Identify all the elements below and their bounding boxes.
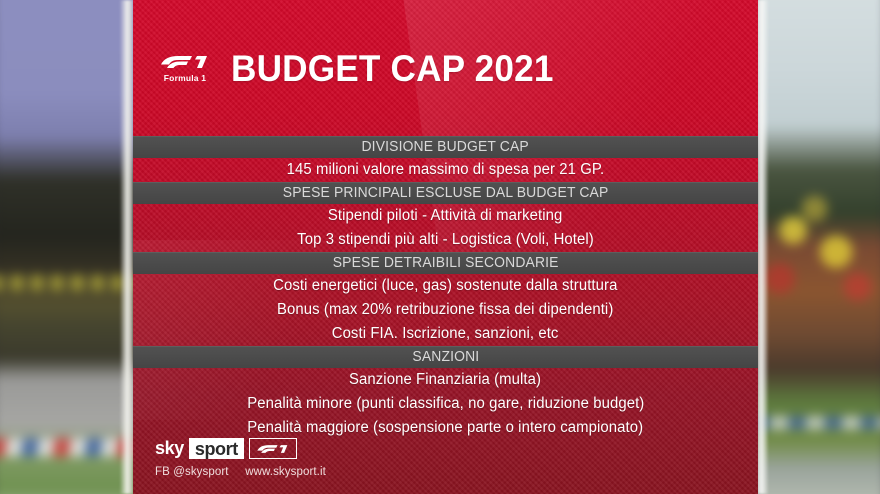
info-row-text: Stipendi piloti - Attività di marketing xyxy=(328,207,562,225)
sky-sport-logo: sky sport xyxy=(155,438,326,459)
f1-logo-icon xyxy=(159,53,211,71)
info-row: Bonus (max 20% retribuzione fissa dei di… xyxy=(133,298,758,322)
info-row-text: Costi FIA. Iscrizione, sanzioni, etc xyxy=(332,325,559,343)
facebook-handle: FB @skysport xyxy=(155,466,229,478)
sport-wordmark: sport xyxy=(195,440,238,458)
info-row: Penalità minore (punti classifica, no ga… xyxy=(133,392,758,416)
page-title: BUDGET CAP 2021 xyxy=(231,50,554,87)
section-heading: SPESE PRINCIPALI ESCLUSE DAL BUDGET CAP xyxy=(133,182,758,204)
social-handles: FB @skysport www.skysport.it xyxy=(155,466,326,478)
section-heading-label: SANZIONI xyxy=(412,349,479,365)
info-row-text: Sanzione Finanziaria (multa) xyxy=(349,371,541,389)
info-row: 145 milioni valore massimo di spesa per … xyxy=(133,158,758,182)
panel-header: Formula 1 BUDGET CAP 2021 xyxy=(133,0,758,136)
info-row-text: Bonus (max 20% retribuzione fissa dei di… xyxy=(277,301,613,319)
f1-logo-icon xyxy=(256,443,290,455)
red-info-panel: Formula 1 BUDGET CAP 2021 DIVISIONE BUDG… xyxy=(133,0,758,494)
sport-wordmark-box: sport xyxy=(189,438,244,459)
info-row: Top 3 stipendi più alti - Logistica (Vol… xyxy=(133,228,758,252)
f1-logo: Formula 1 xyxy=(155,53,215,83)
kerb-blur-right xyxy=(753,416,880,429)
website-url: www.skysport.it xyxy=(245,466,326,478)
f1-logo-word: Formula 1 xyxy=(164,74,206,83)
info-row: Costi FIA. Iscrizione, sanzioni, etc xyxy=(133,322,758,346)
info-row: Costi energetici (luce, gas) sostenute d… xyxy=(133,274,758,298)
info-row-text: Costi energetici (luce, gas) sostenute d… xyxy=(273,277,617,295)
info-row-text: Penalità minore (punti classifica, no ga… xyxy=(247,395,644,413)
section-heading-label: SPESE PRINCIPALI ESCLUSE DAL BUDGET CAP xyxy=(283,185,609,201)
info-row-text: 145 milioni valore massimo di spesa per … xyxy=(287,161,605,179)
info-row: Sanzione Finanziaria (multa) xyxy=(133,368,758,392)
broadcaster-footer: sky sport FB @skysport xyxy=(155,438,326,478)
info-row: Penalità maggiore (sospensione parte o i… xyxy=(133,416,758,440)
panel-right-seam xyxy=(757,0,768,494)
section-heading: SANZIONI xyxy=(133,346,758,368)
info-row-text: Top 3 stipendi più alti - Logistica (Vol… xyxy=(297,231,594,249)
section-heading-label: SPESE DETRAIBILI SECONDARIE xyxy=(333,255,559,271)
panel-left-seam xyxy=(120,0,133,494)
footer-f1-badge xyxy=(249,438,297,459)
broadcast-graphic: Formula 1 BUDGET CAP 2021 DIVISIONE BUDG… xyxy=(0,0,880,494)
info-rows: DIVISIONE BUDGET CAP145 milioni valore m… xyxy=(133,136,758,440)
crowd-blur xyxy=(753,190,880,324)
info-row-text: Penalità maggiore (sospensione parte o i… xyxy=(248,419,644,437)
section-heading: DIVISIONE BUDGET CAP xyxy=(133,136,758,158)
section-heading: SPESE DETRAIBILI SECONDARIE xyxy=(133,252,758,274)
section-heading-label: DIVISIONE BUDGET CAP xyxy=(362,139,529,155)
background-right-trackside xyxy=(753,0,880,494)
sky-wordmark: sky xyxy=(155,438,184,459)
info-row: Stipendi piloti - Attività di marketing xyxy=(133,204,758,228)
